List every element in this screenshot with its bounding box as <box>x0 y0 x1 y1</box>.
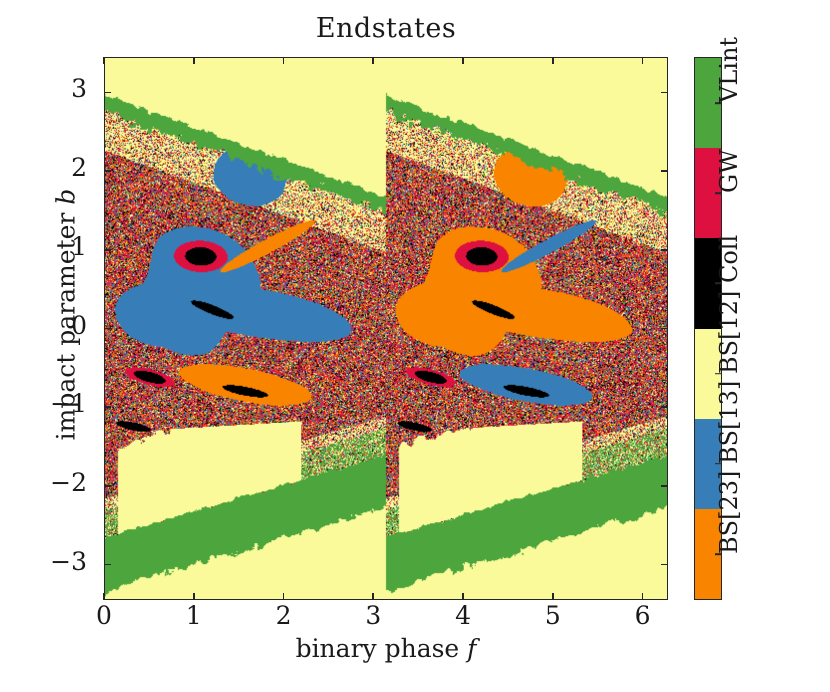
x-tick-mark <box>283 593 285 600</box>
y-tick-label: −3 <box>17 547 87 576</box>
x-tick-label: 1 <box>164 601 224 630</box>
colorbar-label: BS[12] <box>715 290 743 373</box>
y-tick-mark <box>661 249 668 251</box>
colorbar-segment-vlint[interactable]: VLint <box>695 58 721 148</box>
y-tick-mark <box>104 406 111 408</box>
y-axis-label: impact parameter b <box>52 125 81 505</box>
y-tick-mark <box>661 170 668 172</box>
y-tick-mark <box>661 485 668 487</box>
y-tick-mark <box>661 328 668 330</box>
y-tick-mark <box>104 328 111 330</box>
y-tick-mark <box>104 249 111 251</box>
x-tick-label: 3 <box>343 601 403 630</box>
x-tick-mark <box>193 593 195 600</box>
x-tick-mark <box>103 57 105 64</box>
colorbar-segment-gw[interactable]: GW <box>695 148 721 238</box>
x-tick-mark <box>283 57 285 64</box>
colorbar-label: GW <box>715 149 743 193</box>
colorbar-label: BS[13] <box>715 380 743 463</box>
x-tick-label: 0 <box>74 601 134 630</box>
x-axis-label: binary phase f <box>104 634 668 663</box>
x-tick-mark <box>642 593 644 600</box>
y-tick-mark <box>104 564 111 566</box>
x-tick-label: 6 <box>613 601 673 630</box>
x-axis-label-symbol: f <box>467 634 476 663</box>
x-tick-label: 5 <box>523 601 583 630</box>
colorbar-label: Coll <box>715 235 743 283</box>
page-title: Endstates <box>104 14 668 44</box>
x-tick-mark <box>462 57 464 64</box>
x-tick-mark <box>372 57 374 64</box>
x-tick-mark <box>552 57 554 64</box>
x-tick-mark <box>193 57 195 64</box>
y-tick-mark <box>104 485 111 487</box>
y-axis-label-symbol: b <box>52 189 81 205</box>
x-tick-mark <box>462 593 464 600</box>
colorbar-segment-bs23[interactable]: BS[23] <box>695 509 721 599</box>
y-axis-label-text: impact parameter <box>52 205 81 441</box>
x-tick-mark <box>642 57 644 64</box>
colorbar-legend[interactable]: VLintGWCollBS[12]BS[13]BS[23] <box>694 57 722 600</box>
colorbar-label: BS[23] <box>715 471 743 554</box>
figure-endstates: Endstates 0123456 3210−1−2−3 binary phas… <box>0 0 830 692</box>
x-tick-label: 2 <box>254 601 314 630</box>
y-tick-label: 3 <box>17 74 87 103</box>
y-tick-mark <box>104 170 111 172</box>
x-tick-label: 4 <box>433 601 493 630</box>
y-tick-mark <box>661 564 668 566</box>
y-tick-mark <box>104 92 111 94</box>
endstates-basin-heatmap[interactable] <box>105 58 667 599</box>
x-tick-mark <box>372 593 374 600</box>
x-tick-mark <box>552 593 554 600</box>
x-tick-mark <box>103 593 105 600</box>
y-tick-mark <box>661 406 668 408</box>
x-axis-label-text: binary phase <box>296 634 468 663</box>
plot-area[interactable] <box>104 57 668 600</box>
colorbar-label: VLint <box>715 37 743 103</box>
y-tick-mark <box>661 92 668 94</box>
